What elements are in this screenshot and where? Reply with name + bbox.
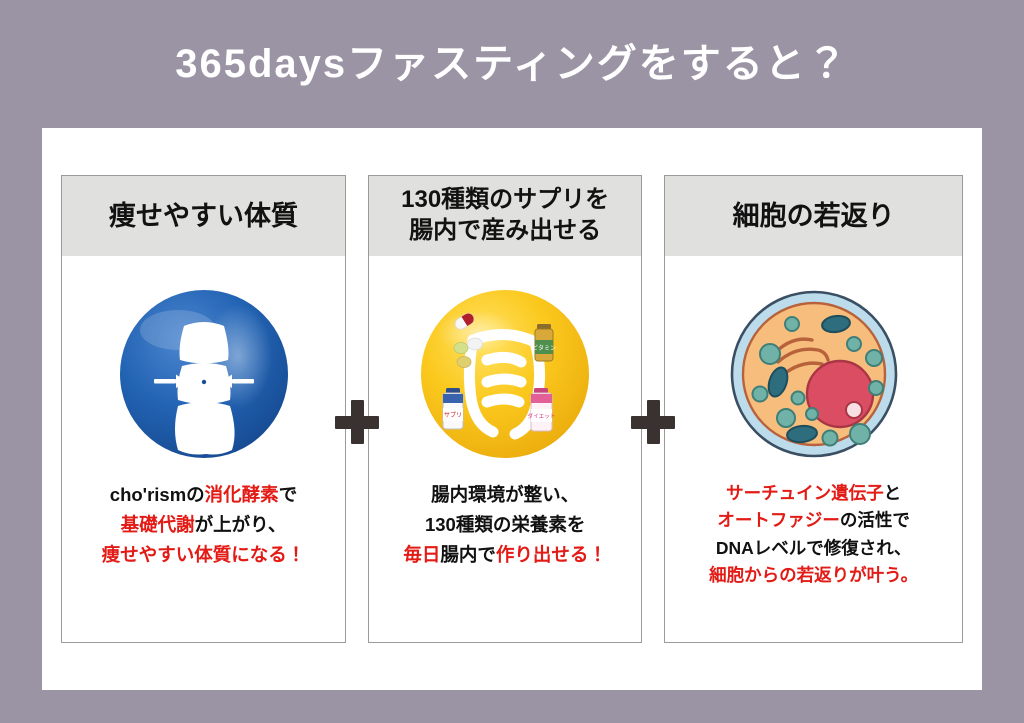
caption-text: cho'rismの bbox=[110, 484, 205, 505]
caption-line: 細胞からの若返りが叶う。 bbox=[709, 562, 918, 589]
caption-text-highlight: 作り出せる！ bbox=[496, 544, 607, 565]
caption-text: 腸内環境が整い、 bbox=[431, 484, 579, 505]
separator-slot-2 bbox=[642, 175, 664, 643]
card-slim-body-content: cho'rismの消化酵素で 基礎代謝が上がり、 痩せやすい体質になる！ bbox=[62, 256, 345, 642]
caption-line: 基礎代謝が上がり、 bbox=[102, 510, 306, 540]
caption-text-highlight: 基礎代謝 bbox=[121, 514, 195, 535]
caption-line: 毎日腸内で作り出せる！ bbox=[403, 540, 607, 570]
caption-text: で bbox=[279, 484, 298, 505]
title-bar: 365daysファスティングをすると？ bbox=[0, 0, 1024, 128]
page-title: 365daysファスティングをすると？ bbox=[175, 44, 849, 84]
caption-text: の活性で bbox=[840, 510, 910, 530]
bottle-label-diet: ダイエット bbox=[528, 412, 556, 420]
card-slim-body-header: 痩せやすい体質 bbox=[62, 176, 345, 256]
card-cell-rejuvenation[interactable]: 細胞の若返り bbox=[664, 175, 963, 643]
card-gut-supplements-content: ビタミン サプリ bbox=[369, 256, 641, 642]
caption-text-highlight: オートファジー bbox=[717, 510, 840, 530]
card-cell-rejuvenation-content: サーチュイン遺伝子と オートファジーの活性で DNAレベルで修復され、 細胞から… bbox=[665, 256, 962, 642]
card-gut-supplements-caption: 腸内環境が整い、 130種類の栄養素を 毎日腸内で作り出せる！ bbox=[395, 480, 615, 570]
caption-text: 130種類の栄養素を bbox=[425, 514, 585, 535]
bottle-label-vitamin: ビタミン bbox=[532, 344, 556, 352]
caption-text-highlight: 毎日 bbox=[403, 544, 440, 565]
intestine-supplements-icon: ビタミン サプリ bbox=[415, 284, 595, 464]
card-slim-body-caption: cho'rismの消化酵素で 基礎代謝が上がり、 痩せやすい体質になる！ bbox=[94, 480, 314, 570]
cell-diagram-icon bbox=[724, 284, 904, 464]
caption-text-highlight: 痩せやすい体質になる！ bbox=[102, 544, 306, 565]
caption-line: 130種類の栄養素を bbox=[403, 510, 607, 540]
caption-text: と bbox=[884, 483, 902, 503]
bottle-label-supplement: サプリ bbox=[444, 412, 462, 419]
caption-text: DNAレベルで修復され、 bbox=[716, 538, 912, 558]
plus-separator-2 bbox=[631, 400, 675, 444]
card-header-line-1: 130種類のサプリを bbox=[401, 186, 609, 213]
card-gut-supplements[interactable]: 130種類のサプリを 腸内で産み出せる bbox=[368, 175, 642, 643]
card-gut-supplements-header: 130種類のサプリを 腸内で産み出せる bbox=[369, 176, 641, 256]
slim-waist-icon bbox=[114, 284, 294, 464]
benefit-cards-row: 痩せやすい体質 bbox=[61, 175, 963, 643]
caption-line: cho'rismの消化酵素で bbox=[102, 480, 306, 510]
content-panel: 痩せやすい体質 bbox=[42, 128, 982, 690]
caption-line: 腸内環境が整い、 bbox=[403, 480, 607, 510]
card-cell-rejuvenation-caption: サーチュイン遺伝子と オートファジーの活性で DNAレベルで修復され、 細胞から… bbox=[701, 480, 926, 589]
caption-line: DNAレベルで修復され、 bbox=[709, 535, 918, 562]
separator-slot-1 bbox=[346, 175, 368, 643]
caption-line: オートファジーの活性で bbox=[709, 507, 918, 534]
caption-text: が上がり、 bbox=[195, 514, 287, 535]
card-header-line-2: 腸内で産み出せる bbox=[409, 217, 601, 244]
caption-line: 痩せやすい体質になる！ bbox=[102, 540, 306, 570]
caption-line: サーチュイン遺伝子と bbox=[709, 480, 918, 507]
card-slim-body[interactable]: 痩せやすい体質 bbox=[61, 175, 346, 643]
caption-text: 腸内で bbox=[440, 544, 496, 565]
caption-text-highlight: サーチュイン遺伝子 bbox=[726, 483, 884, 503]
card-cell-rejuvenation-header: 細胞の若返り bbox=[665, 176, 962, 256]
caption-text-highlight: 細胞からの若返りが叶う。 bbox=[709, 565, 918, 585]
plus-separator-1 bbox=[335, 400, 379, 444]
caption-text-highlight: 消化酵素 bbox=[205, 484, 279, 505]
